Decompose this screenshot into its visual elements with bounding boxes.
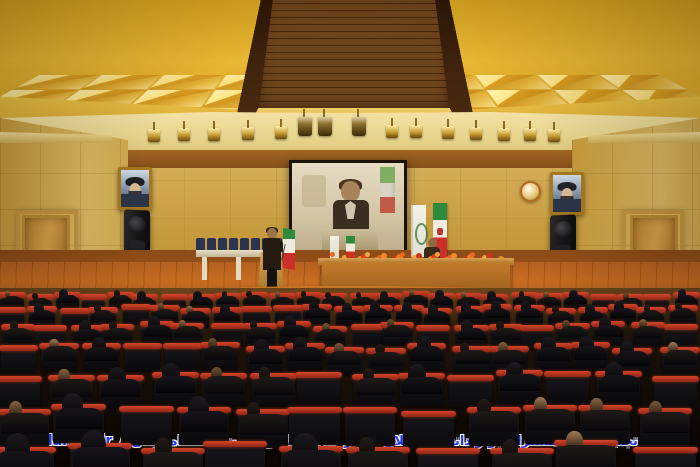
audience-member-shoulders [254,377,294,395]
wood-slat-soffit [258,0,450,114]
audience-member-shoulders [56,408,103,429]
audience-member-shoulders [599,375,639,393]
stage-spotlight [275,126,287,139]
audience-member-shoulders [317,329,345,341]
audience-member-shoulders [350,451,406,467]
audience-chair [1,348,36,372]
audience-member-shoulders [642,412,689,433]
audience-member-shoulders [582,410,629,431]
seated-audience [0,288,700,467]
audience-member-shoulders [204,376,244,394]
audience-member-shoulders [337,310,361,320]
audience-member-shoulders [184,311,208,321]
audience-member-shoulders [527,409,574,430]
audience-member-shoulders [495,453,551,467]
audience-member-shoulders [305,308,329,318]
audience-member-shoulders [538,297,560,305]
stage-spotlight [318,116,332,136]
stage-spotlight [178,128,190,141]
audience-member-shoulders [1,413,48,434]
audience-member-shoulders [471,411,518,432]
audience-member-shoulders [565,295,587,303]
flower [435,252,440,257]
audience-member-shoulders [104,328,132,340]
audience-member-shoulders [384,325,412,337]
stage-spotlight [242,127,254,140]
audience-member-shoulders [431,296,453,304]
audience-member-shoulders [2,296,24,304]
flower [330,252,335,257]
audience-member-shoulders [366,308,390,318]
audience-member-shoulders [110,295,132,303]
audience-member-shoulders [616,351,649,365]
audience-member-shoulders [328,351,361,365]
audience-member-shoulders [425,311,449,321]
stage-spotlight [208,128,220,141]
audience-member-shoulders [500,374,540,392]
audience-member-shoulders [249,349,282,363]
audience-chair [546,374,589,404]
flower [400,252,405,257]
audience-member-shoulders [30,310,54,320]
audience-chair [635,450,695,467]
audience-member-shoulders [144,325,172,337]
framed-portrait-khamenei [550,172,584,215]
audience-member-shoulders [664,350,697,364]
stage-spotlight [470,127,482,140]
audience-member-shoulders [402,377,442,395]
audience-member-shoulders [671,308,695,318]
audience-member-shoulders [174,326,202,338]
audience-member-shoulders [280,325,308,337]
wall-clock [520,181,541,202]
audience-member-shoulders [289,347,322,361]
stage-spotlight [498,128,510,141]
flower [365,252,370,257]
audience-member-shoulders [101,379,141,397]
audience-chair [205,444,265,467]
projected-speaker [332,181,370,227]
framed-portrait-khomeini [118,167,152,210]
audience-member-shoulders [283,450,339,467]
audience-chair [418,451,478,467]
audience-member-shoulders [91,310,115,320]
stage-spotlight [524,128,536,141]
audience-member-shoulders [634,326,662,338]
audience-member-shoulders [43,346,76,360]
audience-member-shoulders [244,295,266,303]
stage-spotlight [148,129,160,142]
audience-member-shoulders [537,347,570,361]
audience-member-shoulders [156,376,196,394]
audience-member-shoulders [57,295,79,303]
stage-spotlight [386,125,398,138]
audience-member-shoulders [217,296,239,304]
audience-member-shoulders [559,445,615,467]
audience-member-shoulders [595,325,623,337]
audience-member-shoulders [240,414,287,435]
audience-member-shoulders [204,346,237,360]
audience-member-shoulders [397,309,421,319]
audience-member-shoulders [492,328,520,340]
flower [470,252,475,257]
audience-member-shoulders [518,308,542,318]
iran-flag-beside-podium [283,228,295,270]
audience-member-shoulders [85,347,118,361]
audience-member-shoulders [0,451,53,467]
audience-member-shoulders [4,328,32,340]
stage-spotlight [548,129,560,142]
standing-presenter [263,228,281,276]
audience-member-shoulders [146,452,202,467]
audience-member-shoulders [549,311,573,321]
audience-member-shoulders [611,308,635,318]
audience-member-shoulders [181,411,228,432]
audience-member-shoulders [574,346,607,360]
audience-chair [403,414,453,450]
audience-member-shoulders [456,350,489,364]
audience-member-shoulders [410,346,443,360]
audience-member-shoulders [377,297,399,305]
audience-member-shoulders [191,297,213,305]
auditorium-photograph: مراسم تجلیل از پژوهشگران برتر دانشگاه گی… [0,0,700,467]
audience-member-shoulders [323,296,345,304]
audience-member-shoulders [458,328,486,340]
audience-chair [125,346,160,370]
audience-member-shoulders [370,352,403,366]
stage-spotlight [442,126,454,139]
audience-member-shoulders [73,447,129,467]
audience-member-shoulders [493,350,526,364]
stage-spotlight [410,125,422,138]
audience-member-shoulders [485,308,509,318]
audience-member-shoulders [459,309,483,319]
audience-chair [297,375,340,405]
stage-spotlight [298,116,312,136]
stage-spotlight [352,116,366,136]
projected-flag [380,167,395,213]
audience-member-shoulders [356,378,396,396]
ceiling-coffer [149,75,225,89]
projected-emblem [302,175,326,207]
audience-member-shoulders [247,327,275,339]
